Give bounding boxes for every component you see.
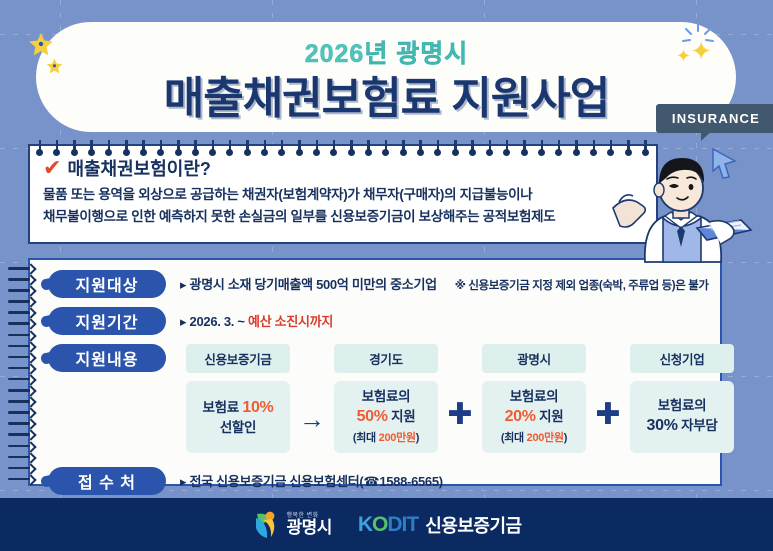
pin-icon [539, 140, 545, 155]
period-highlight: 예산 소진시까지 [248, 314, 333, 329]
row-period-body: ▸ 2026. 3. ~ 예산 소진시까지 [180, 307, 333, 330]
plus-icon: ✚ [447, 404, 472, 425]
pin-icon [401, 140, 407, 155]
col-line2: 선할인 [220, 419, 256, 437]
coil-icon [8, 455, 32, 460]
pin-icon [487, 140, 493, 155]
row-target-body: ▸ 광명시 소재 당기매출액 500억 미만의 중소기업 ※ 신용보증기금 지정… [180, 270, 709, 293]
support-col-kodit: 신용보증기금 보험료 10% 선할인 [186, 344, 290, 453]
col-title: 광명시 [482, 344, 586, 373]
coil-icon [8, 410, 32, 415]
explanation-line-2: 채무불이행으로 인한 예측하지 못한 손실금의 일부를 신용보증기금이 보상해주… [43, 206, 656, 228]
coil-icon [8, 388, 32, 393]
row-period: 지원기간 ▸ 2026. 3. ~ 예산 소진시까지 [48, 307, 720, 335]
connector-plus: ✚ [586, 344, 630, 425]
gwangmyeong-logo: 행복한 변화 광명시 [251, 510, 331, 540]
pin-icon [504, 140, 510, 155]
kodit-dit: DIT [387, 513, 418, 536]
coil-icon [8, 366, 32, 371]
pin-icon [435, 140, 441, 155]
pin-icon [141, 140, 147, 155]
col-sub-suffix: ) [564, 432, 567, 444]
col-line2-suffix: 지원 [536, 409, 564, 424]
kodit-name: 신용보증기금 [425, 512, 521, 538]
col-box: 보험료의 30% 자부담 [630, 381, 734, 453]
col-line2: 50% 지원 [357, 406, 416, 428]
col-sub: (최대 200만원) [501, 431, 567, 446]
coil-icon [8, 355, 32, 360]
col-box: 보험료의 20% 지원 (최대 200만원) [482, 381, 586, 453]
row-content: 지원내용 신용보증기금 보험료 10% 선할인 → 경기도 [48, 344, 720, 453]
coil-icon [8, 277, 32, 282]
details-card: 지원대상 ▸ 광명시 소재 당기매출액 500억 미만의 중소기업 ※ 신용보증… [28, 258, 722, 486]
pin-icon [522, 140, 528, 155]
coil-icon [8, 344, 32, 349]
col-line2: 30% 자부담 [647, 415, 718, 437]
target-note: ※ 신용보증기금 지정 제외 업종(숙박, 주류업 등)은 불가 [455, 277, 709, 293]
col-highlight: 20% [505, 408, 536, 425]
row-contact: 접 수 처 ▸ 전국 신용보증기금 신용보험센터(☎1588-6565) [48, 467, 720, 495]
col-line1-prefix: 보험료 [203, 400, 243, 415]
pin-icon [349, 140, 355, 155]
support-col-applicant: 신청기업 보험료의 30% 자부담 [630, 344, 734, 453]
pin-icon [297, 140, 303, 155]
pin-icon [106, 140, 112, 155]
col-sub-amount: 200만원 [379, 432, 416, 444]
coil-icon [8, 266, 32, 271]
target-text: ▸ 광명시 소재 당기매출액 500억 미만의 중소기업 [180, 274, 437, 293]
col-title: 신청기업 [630, 344, 734, 373]
col-sub-suffix: ) [416, 432, 419, 444]
pin-icon [158, 140, 164, 155]
col-sub-prefix: (최대 [501, 432, 527, 444]
col-line2: 20% 지원 [505, 406, 564, 428]
col-line1: 보험료 10% [203, 397, 274, 419]
pin-icon [556, 140, 562, 155]
contact-text: ▸ 전국 신용보증기금 신용보험센터(☎1588-6565) [180, 471, 443, 490]
pin-icon [470, 140, 476, 155]
pin-row [30, 140, 656, 154]
plus-icon: ✚ [595, 404, 620, 425]
pin-icon [262, 140, 268, 155]
pin-icon [314, 140, 320, 155]
coil-icon [8, 444, 32, 449]
explanation-heading: 매출채권보험이란? [67, 155, 210, 181]
gwangmyeong-symbol-icon [251, 510, 279, 540]
period-prefix: ▸ 2026. 3. ~ [180, 314, 248, 329]
connector-plus: ✚ [438, 344, 482, 425]
arrow-icon: → [299, 404, 325, 435]
coil-icon [8, 333, 32, 338]
label-contact: 접 수 처 [48, 467, 166, 495]
explanation-heading-row: ✔ 매출채권보험이란? [43, 155, 656, 181]
pin-icon [453, 140, 459, 155]
pin-icon [245, 140, 251, 155]
gwangmyeong-name: 광명시 [286, 519, 331, 536]
col-line1: 보험료의 [362, 388, 410, 406]
coil-icon [8, 399, 32, 404]
pin-icon [591, 140, 597, 155]
col-sub-amount: 200만원 [527, 432, 564, 444]
coil-icon [8, 432, 32, 437]
pin-icon [89, 140, 95, 155]
period-text: ▸ 2026. 3. ~ 예산 소진시까지 [180, 311, 333, 330]
row-target: 지원대상 ▸ 광명시 소재 당기매출액 500억 미만의 중소기업 ※ 신용보증… [48, 270, 720, 298]
connector-arrow: → [290, 344, 334, 435]
pin-icon [210, 140, 216, 155]
poster-root: ✦ ✦ 2026년 광명시 매출채권보험료 지원사업 INSURANCE [0, 0, 773, 551]
insurance-badge: INSURANCE [656, 104, 773, 133]
col-line1: 보험료의 [510, 388, 558, 406]
pin-icon [176, 140, 182, 155]
col-title: 경기도 [334, 344, 438, 373]
pin-icon [193, 140, 199, 155]
kodit-mark: KODIT [358, 513, 418, 537]
coil-icon [8, 421, 32, 426]
support-col-gyeonggi: 경기도 보험료의 50% 지원 (최대 200만원) [334, 344, 438, 453]
coil-icon [8, 466, 32, 471]
col-line1-highlight: 10% [242, 399, 273, 416]
detail-rows: 지원대상 ▸ 광명시 소재 당기매출액 500억 미만의 중소기업 ※ 신용보증… [30, 260, 720, 495]
kodit-logo: KODIT 신용보증기금 [358, 512, 522, 538]
pin-icon [574, 140, 580, 155]
support-columns: 신용보증기금 보험료 10% 선할인 → 경기도 보험료의 50% 지원 [186, 344, 734, 453]
col-box: 보험료의 50% 지원 (최대 200만원) [334, 381, 438, 453]
col-line1: 보험료의 [658, 397, 706, 415]
col-sub: (최대 200만원) [353, 431, 419, 446]
col-line2-suffix: 자부담 [678, 418, 718, 433]
pin-icon [279, 140, 285, 155]
footer: 행복한 변화 광명시 KODIT 신용보증기금 [0, 498, 773, 551]
coil-icon [8, 288, 32, 293]
coil-icon [8, 299, 32, 304]
pin-icon [366, 140, 372, 155]
pin-icon [331, 140, 337, 155]
pin-icon [37, 140, 43, 155]
spiral-binding [8, 266, 32, 482]
pin-icon [418, 140, 424, 155]
label-target: 지원대상 [48, 270, 166, 298]
coil-icon [8, 477, 32, 482]
row-contact-body: ▸ 전국 신용보증기금 신용보험센터(☎1588-6565) [180, 467, 443, 490]
pin-icon [72, 140, 78, 155]
explanation-box: ✔ 매출채권보험이란? 물품 또는 용역을 외상으로 공급하는 채권자(보험계약… [28, 144, 658, 244]
coil-icon [8, 321, 32, 326]
gwangmyeong-text: 행복한 변화 광명시 [286, 513, 331, 536]
check-icon: ✔ [43, 157, 61, 179]
pin-icon [124, 140, 130, 155]
pin-icon [54, 140, 60, 155]
support-col-gwangmyeong: 광명시 보험료의 20% 지원 (최대 200만원) [482, 344, 586, 453]
kodit-k: K [358, 513, 372, 536]
pin-icon [383, 140, 389, 155]
col-highlight: 50% [357, 408, 388, 425]
col-title: 신용보증기금 [186, 344, 290, 373]
col-sub-prefix: (최대 [353, 432, 379, 444]
explanation-line-1: 물품 또는 용역을 외상으로 공급하는 채권자(보험계약자)가 채무자(구매자)… [43, 184, 656, 206]
kodit-o: O [372, 513, 387, 536]
pin-icon [227, 140, 233, 155]
col-line2-suffix: 지원 [388, 409, 416, 424]
coil-icon [8, 310, 32, 315]
label-period: 지원기간 [48, 307, 166, 335]
label-content: 지원내용 [48, 344, 166, 372]
col-box: 보험료 10% 선할인 [186, 381, 290, 453]
character-illustration [605, 150, 755, 265]
col-navy-value: 30% [647, 417, 678, 434]
coil-icon [8, 377, 32, 382]
